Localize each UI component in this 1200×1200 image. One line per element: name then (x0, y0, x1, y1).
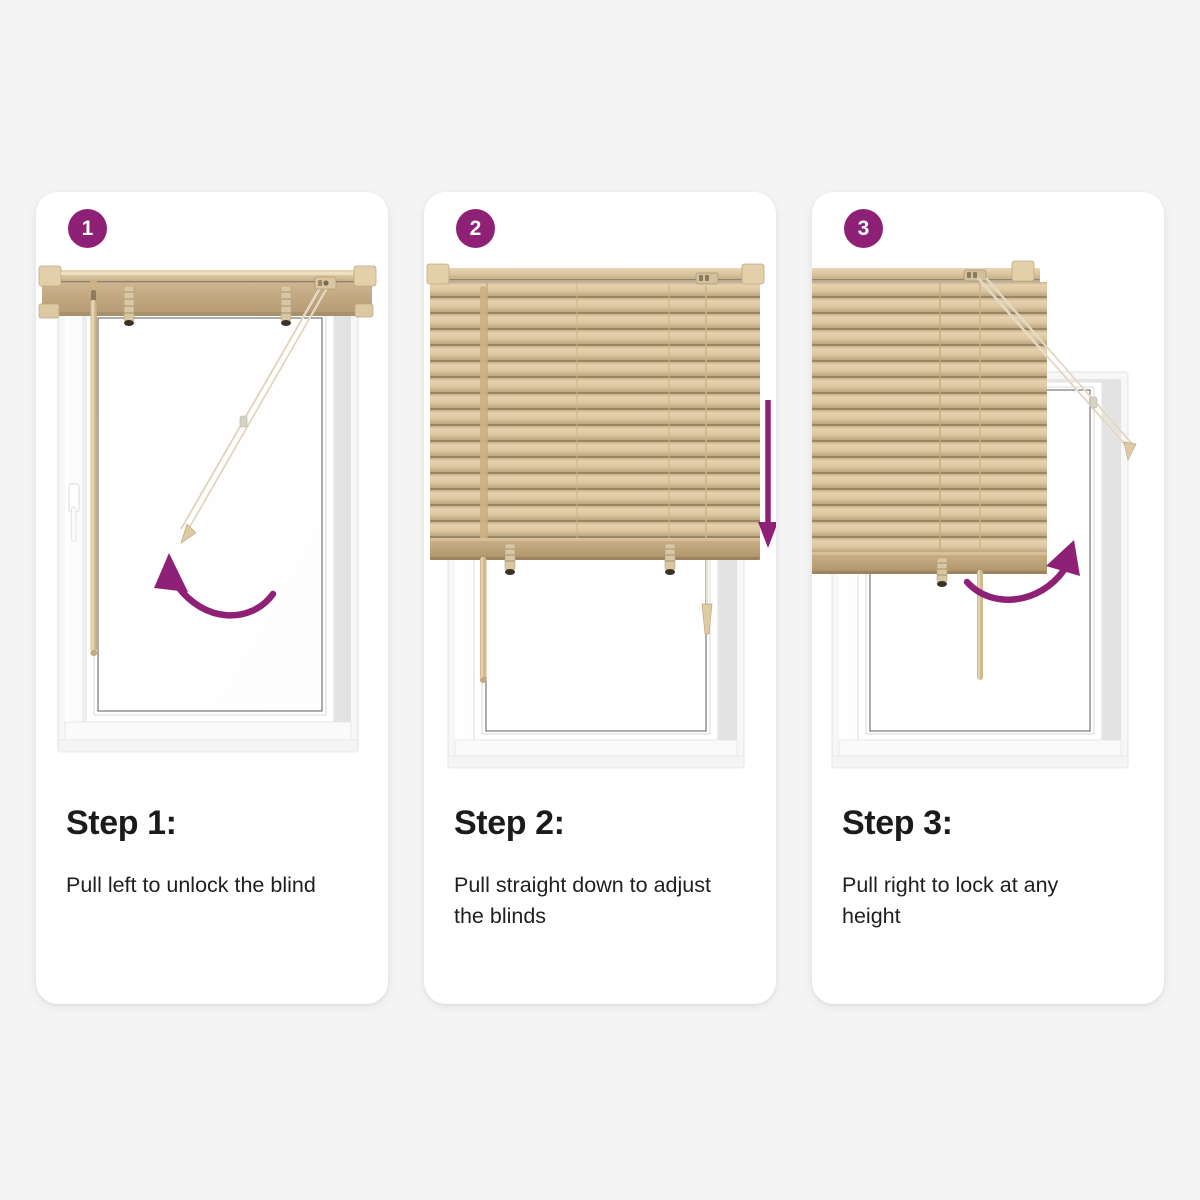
step-card-1[interactable]: 1 (36, 192, 388, 1004)
blind-bottom-rail-3 (812, 552, 1047, 574)
blind-bottom-rail-2 (430, 538, 760, 560)
step-description-1: Pull left to unlock the blind (66, 870, 346, 901)
arrow-down-2 (758, 400, 776, 548)
blind-slats-2 (430, 282, 760, 550)
illustration-step-1 (36, 252, 388, 797)
step-badge-1: 1 (68, 209, 107, 248)
blind-slats-3 (812, 282, 1047, 564)
step-description-3: Pull right to lock at any height (842, 870, 1122, 931)
step-card-2[interactable]: 2 (424, 192, 776, 1004)
illustration-step-3 (812, 252, 1164, 797)
illustration-step-2 (424, 252, 776, 797)
tilt-wand-3 (977, 570, 983, 680)
step-card-3[interactable]: 3 (812, 192, 1164, 1004)
blind-headrail-2 (427, 264, 764, 284)
tilt-wand-1 (90, 280, 97, 656)
step-title-1: Step 1: (66, 804, 177, 843)
blind-headrail-3 (812, 261, 1040, 282)
blind-cord-ladders-3 (937, 558, 947, 587)
step-title-2: Step 2: (454, 804, 565, 843)
tilt-wand-2 (480, 557, 487, 683)
step-description-2: Pull straight down to adjust the blinds (454, 870, 734, 931)
step-badge-2: 2 (456, 209, 495, 248)
step-cards-row: 1 (0, 0, 1200, 1200)
instruction-diagram: 1 (0, 0, 1200, 1200)
cord-lock-1 (315, 277, 336, 289)
window-frame-1 (58, 300, 358, 752)
step-badge-3: 3 (844, 209, 883, 248)
step-title-3: Step 3: (842, 804, 953, 843)
